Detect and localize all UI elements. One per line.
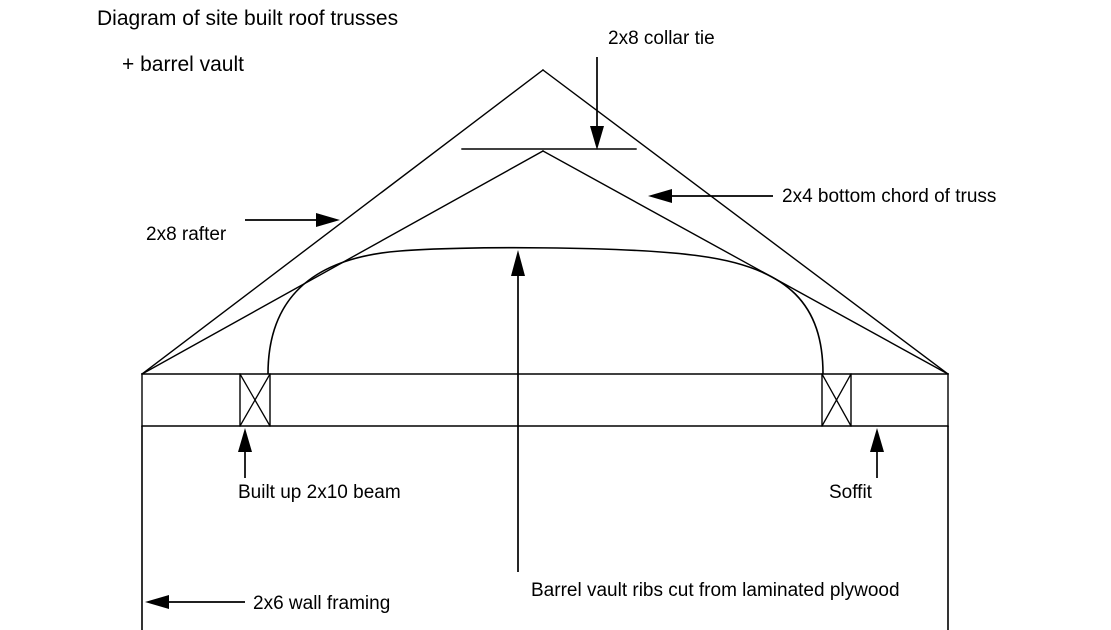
- wall-framing-arrow-icon: [145, 595, 169, 609]
- diagram-title-line1: Diagram of site built roof trusses: [97, 7, 398, 30]
- architectural-diagram: Diagram of site built roof trusses + bar…: [0, 0, 1111, 630]
- bottom-chord-label: 2x4 bottom chord of truss: [782, 186, 996, 207]
- soffit-arrow-icon: [870, 428, 884, 452]
- collar-tie-arrow-icon: [590, 126, 604, 150]
- barrel-vault-arrow-icon: [511, 250, 525, 276]
- left-rafter: [142, 70, 543, 374]
- barrel-vault-label: Barrel vault ribs cut from laminated ply…: [531, 580, 900, 601]
- built-up-beam-label: Built up 2x10 beam: [238, 482, 401, 503]
- collar-tie-label: 2x8 collar tie: [608, 28, 715, 49]
- rafter-arrow-icon: [316, 213, 340, 227]
- bottom-chord-arrow-icon: [648, 189, 672, 203]
- rafter-label: 2x8 rafter: [146, 224, 227, 245]
- wall-framing-label: 2x6 wall framing: [253, 593, 390, 614]
- diagram-canvas: Diagram of site built roof trusses + bar…: [0, 0, 1111, 630]
- diagram-title-line2: + barrel vault: [122, 53, 244, 76]
- built-up-beam-arrow-icon: [238, 428, 252, 452]
- soffit-label: Soffit: [829, 482, 873, 503]
- right-bottom-chord: [543, 151, 948, 374]
- right-rafter: [543, 70, 948, 374]
- barrel-vault-arch: [268, 248, 823, 374]
